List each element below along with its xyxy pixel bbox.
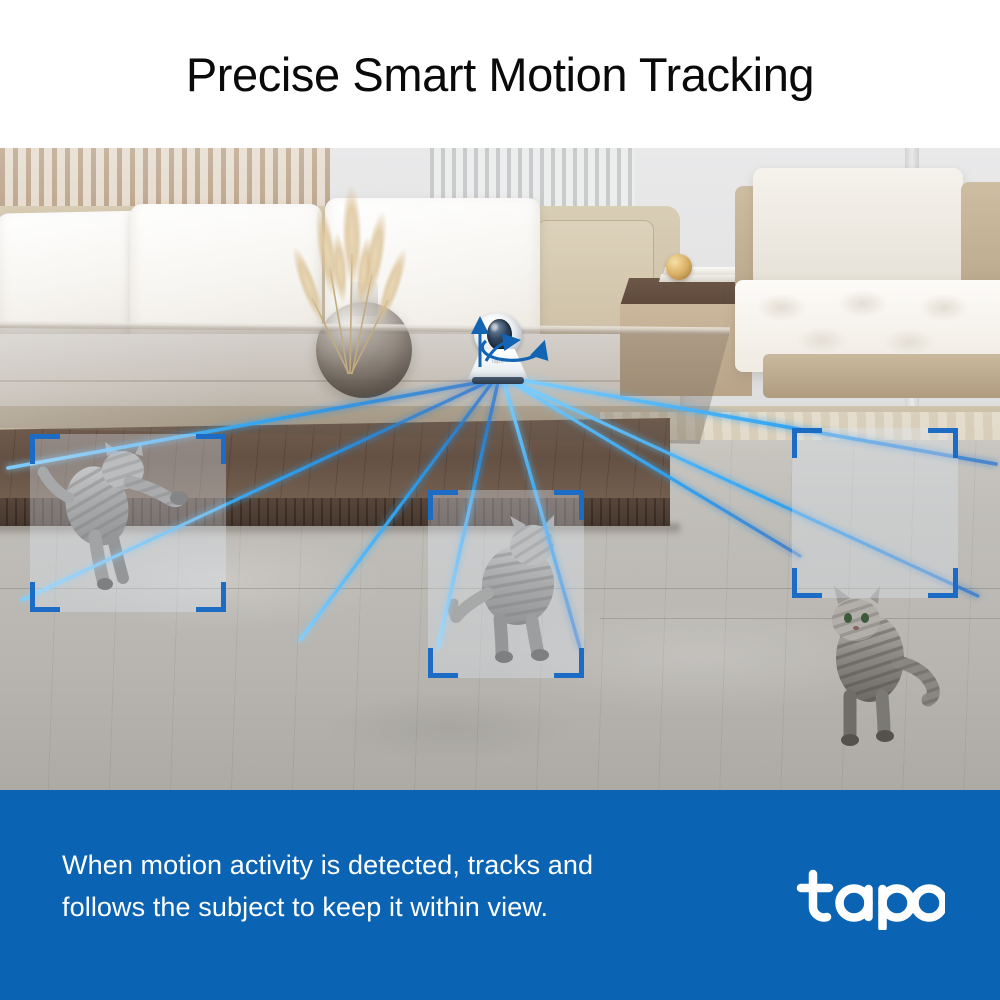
sectional-front-arm <box>763 354 1000 398</box>
detection-box-right[interactable] <box>792 428 958 598</box>
gold-sphere-decor <box>666 254 692 280</box>
corner-bracket-icon <box>30 434 60 464</box>
caption-line-2: follows the subject to keep it within vi… <box>62 887 702 929</box>
title-bar: Precise Smart Motion Tracking <box>0 0 1000 148</box>
corner-bracket-icon <box>428 490 458 520</box>
sectional-arm <box>961 182 1000 292</box>
sectional-backrest <box>753 168 963 288</box>
corner-bracket-icon <box>554 648 584 678</box>
corner-bracket-icon <box>30 582 60 612</box>
corner-bracket-icon <box>928 568 958 598</box>
corner-bracket-icon <box>196 582 226 612</box>
rotation-arrows <box>428 301 578 397</box>
tapo-camera[interactable]: tapo <box>462 313 534 383</box>
bottom-banner: When motion activity is detected, tracks… <box>0 790 1000 1000</box>
banner-caption: When motion activity is detected, tracks… <box>62 845 702 929</box>
glass-coffee-table <box>0 324 730 444</box>
corner-bracket-icon <box>792 428 822 458</box>
caption-line-1: When motion activity is detected, tracks… <box>62 845 702 887</box>
tapo-logo <box>795 868 945 930</box>
marketing-page: Precise Smart Motion Tracking <box>0 0 1000 1000</box>
corner-bracket-icon <box>428 648 458 678</box>
corner-bracket-icon <box>554 490 584 520</box>
detection-box-center[interactable] <box>428 490 584 678</box>
corner-bracket-icon <box>792 568 822 598</box>
corner-bracket-icon <box>196 434 226 464</box>
detection-box-left[interactable] <box>30 434 226 612</box>
corner-bracket-icon <box>928 428 958 458</box>
scene-photo: tapo <box>0 148 1000 790</box>
floor-seam <box>600 618 1000 619</box>
page-title: Precise Smart Motion Tracking <box>186 51 814 98</box>
sectional-sofa <box>735 168 1000 418</box>
